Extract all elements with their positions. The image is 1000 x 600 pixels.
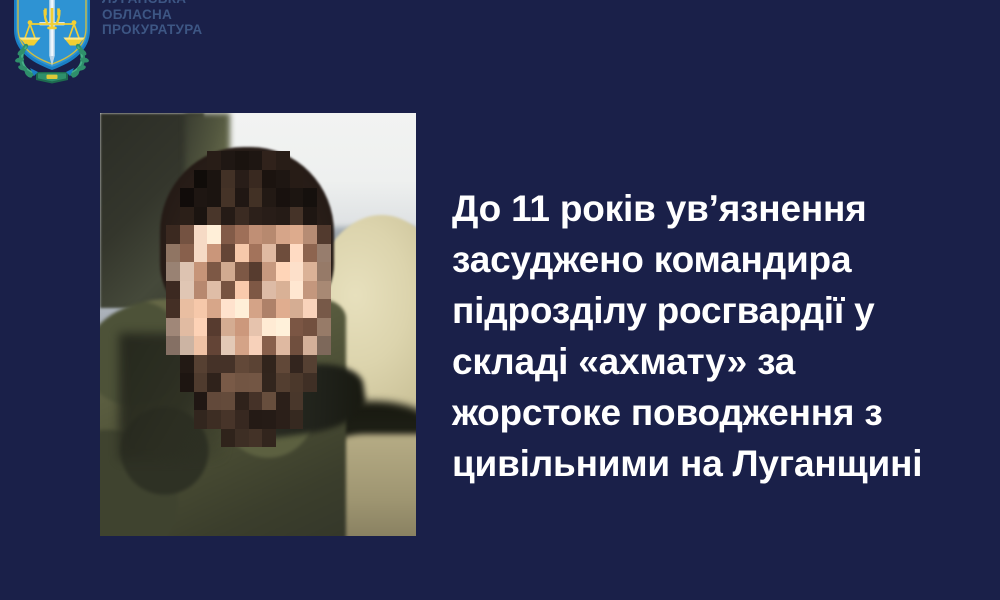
organization-name: ЛУГАНСЬКА ОБЛАСНА ПРОКУРАТУРА — [102, 0, 202, 38]
headline-line-5: жорстоке поводження з — [452, 387, 952, 438]
brand-block: ЛУГАНСЬКА ОБЛАСНА ПРОКУРАТУРА — [0, 0, 300, 86]
headline-line-6: цивільними на Луганщині — [452, 438, 952, 489]
face-pixelation-censor — [166, 151, 330, 447]
org-name-line-2: ОБЛАСНА — [102, 7, 202, 23]
prosecutors-office-emblem-icon — [6, 0, 98, 86]
subject-photo — [100, 113, 416, 536]
headline-line-2: засуджено командира — [452, 234, 952, 285]
org-name-line-3: ПРОКУРАТУРА — [102, 22, 202, 38]
headline-line-1: До 11 років ув’язнення — [452, 183, 952, 234]
headline: До 11 років ув’язнення засуджено команди… — [452, 183, 952, 489]
headline-line-4: складі «ахмату» за — [452, 336, 952, 387]
headline-line-3: підрозділу росгвардії у — [452, 285, 952, 336]
